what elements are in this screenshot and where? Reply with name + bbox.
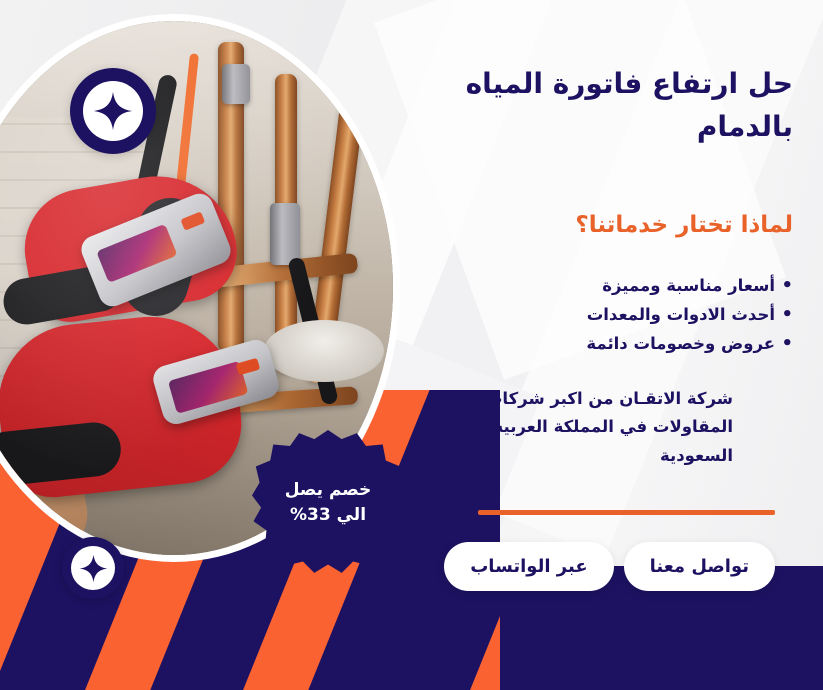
benefits-list: أسعار مناسبة ومميزة أحدث الادوات والمعدا… — [433, 271, 793, 359]
promo-banner: خصم يصل الي 33% حل ارتفاع فاتورة المياه … — [0, 0, 823, 690]
discount-badge: خصم يصل الي 33% — [252, 427, 404, 579]
discount-line-1: خصم يصل — [274, 478, 382, 503]
company-description: شركة الاتقـان من اكبر شركات المقاولات في… — [433, 385, 733, 470]
logo-inner-circle — [83, 81, 143, 141]
contact-us-button[interactable]: تواصل معنا — [624, 542, 775, 591]
orange-divider — [478, 510, 775, 515]
list-item: أحدث الادوات والمعدات — [433, 300, 793, 329]
section-subtitle: لماذا تختار خدماتنا؟ — [433, 211, 793, 241]
list-item: عروض وخصومات دائمة — [433, 329, 793, 358]
list-item: أسعار مناسبة ومميزة — [433, 271, 793, 300]
brand-logo-top[interactable] — [70, 68, 156, 154]
discount-badge-text: خصم يصل الي 33% — [274, 478, 382, 527]
cta-button-row: تواصل معنا عبر الواتساب — [444, 542, 775, 591]
page-title: حل ارتفاع فاتورة المياه بالدمام — [433, 62, 793, 149]
four-point-star-icon — [79, 554, 108, 583]
whatsapp-button[interactable]: عبر الواتساب — [444, 542, 613, 591]
four-point-star-icon — [93, 91, 133, 131]
logo-inner-circle — [71, 546, 115, 590]
discount-line-2: الي 33% — [274, 503, 382, 528]
brand-logo-bottom[interactable] — [62, 537, 124, 599]
text-column: حل ارتفاع فاتورة المياه بالدمام لماذا تخ… — [433, 62, 793, 470]
